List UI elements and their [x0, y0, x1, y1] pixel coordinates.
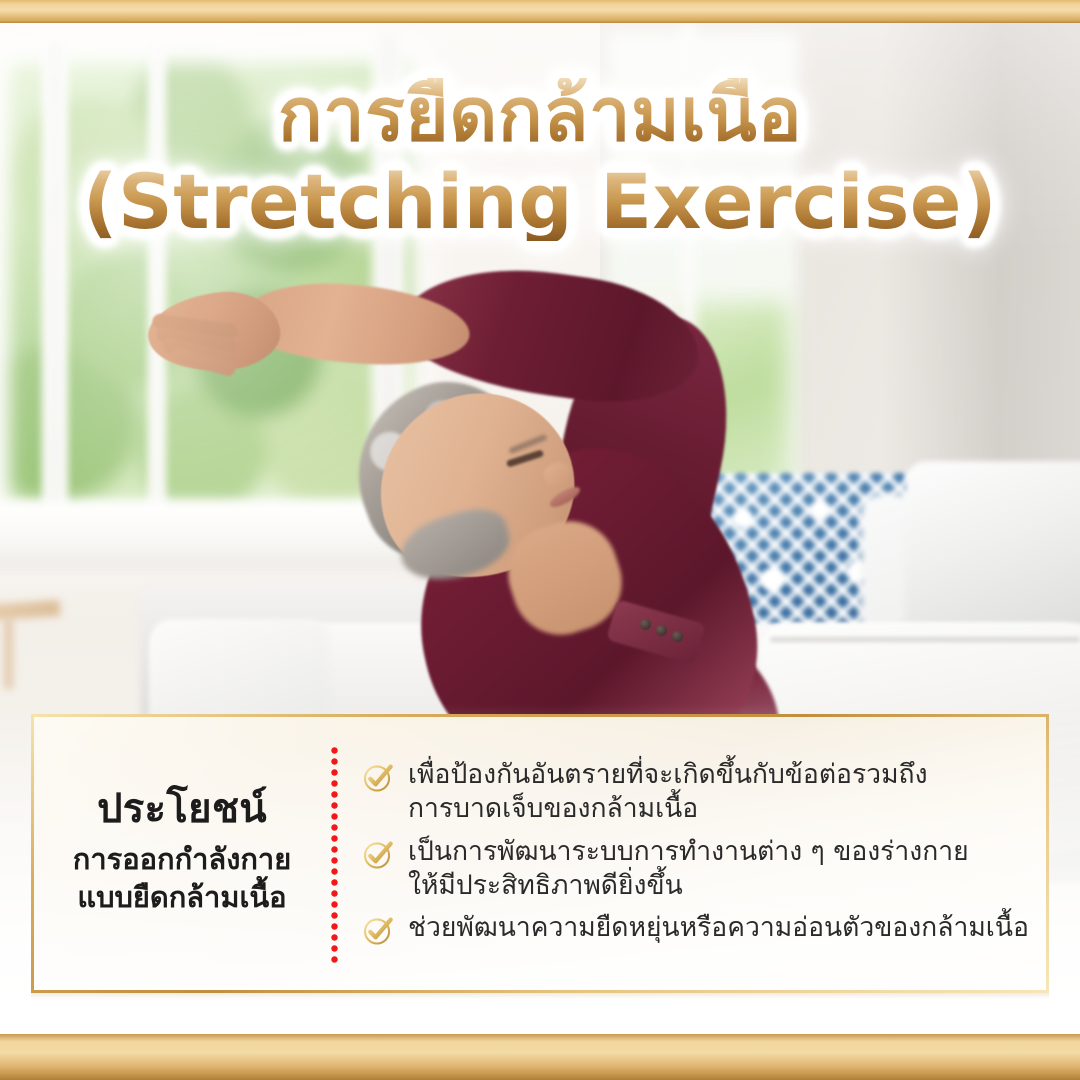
check-circle-icon [362, 914, 395, 947]
check-circle-icon [362, 761, 395, 794]
side-table-leg [4, 619, 13, 689]
benefit-text: ช่วยพัฒนาความยืดหยุ่นหรือความอ่อนตัวของก… [408, 911, 1029, 945]
benefits-subheading-line-2: แบบยืดกล้ามเนื้อ [73, 879, 291, 917]
top-gold-bar [0, 0, 1080, 23]
benefits-panel-heading-block: ประโยชน์ การออกกำลังกาย แบบยืดกล้ามเนื้อ [34, 717, 330, 990]
check-circle-icon [362, 838, 395, 871]
benefits-heading: ประโยชน์ [97, 787, 267, 831]
list-item: ช่วยพัฒนาความยืดหยุ่นหรือความอ่อนตัวของก… [362, 911, 1032, 947]
shirt-button-1 [640, 619, 651, 630]
sofa-seam [770, 637, 1080, 642]
benefit-text: เป็นการพัฒนาระบบการทำงานต่าง ๆ ของร่างกา… [408, 835, 969, 904]
benefits-subheading: การออกกำลังกาย แบบยืดกล้ามเนื้อ [73, 841, 291, 916]
benefit-text: เพื่อป้องกันอันตรายที่จะเกิดขึ้นกับข้อต่… [408, 758, 928, 827]
page-title: การยืดกล้ามเนื้อ (Stretching Exercise) [0, 78, 1080, 241]
list-item: เป็นการพัฒนาระบบการทำงานต่าง ๆ ของร่างกา… [362, 835, 1032, 904]
title-thai: การยืดกล้ามเนื้อ [0, 78, 1080, 157]
shirt-button-3 [672, 631, 683, 642]
benefit-text-line-1: เป็นการพัฒนาระบบการทำงานต่าง ๆ ของร่างกา… [408, 836, 969, 867]
benefits-list: เพื่อป้องกันอันตรายที่จะเกิดขึ้นกับข้อต่… [336, 717, 1046, 990]
panel-drop-shadow [31, 993, 1049, 999]
dotted-divider [330, 745, 336, 964]
list-item: เพื่อป้องกันอันตรายที่จะเกิดขึ้นกับข้อต่… [362, 758, 1032, 827]
shirt-button-2 [656, 625, 667, 636]
benefits-panel: ประโยชน์ การออกกำลังกาย แบบยืดกล้ามเนื้อ [31, 714, 1049, 993]
poster-canvas: การยืดกล้ามเนื้อ (Stretching Exercise) ป… [0, 0, 1080, 1080]
benefit-text-line-1: ช่วยพัฒนาความยืดหยุ่นหรือความอ่อนตัวของก… [408, 912, 1029, 943]
bottom-gold-bar [0, 1034, 1080, 1080]
benefit-text-line-1: เพื่อป้องกันอันตรายที่จะเกิดขึ้นกับข้อต่… [408, 759, 928, 790]
benefit-text-line-2: ให้มีประสิทธิภาพดียิ่งขึ้น [408, 870, 683, 901]
title-english: (Stretching Exercise) [0, 163, 1080, 241]
benefit-text-line-2: การบาดเจ็บของกล้ามเนื้อ [408, 793, 698, 824]
benefits-subheading-line-1: การออกกำลังกาย [73, 841, 291, 879]
